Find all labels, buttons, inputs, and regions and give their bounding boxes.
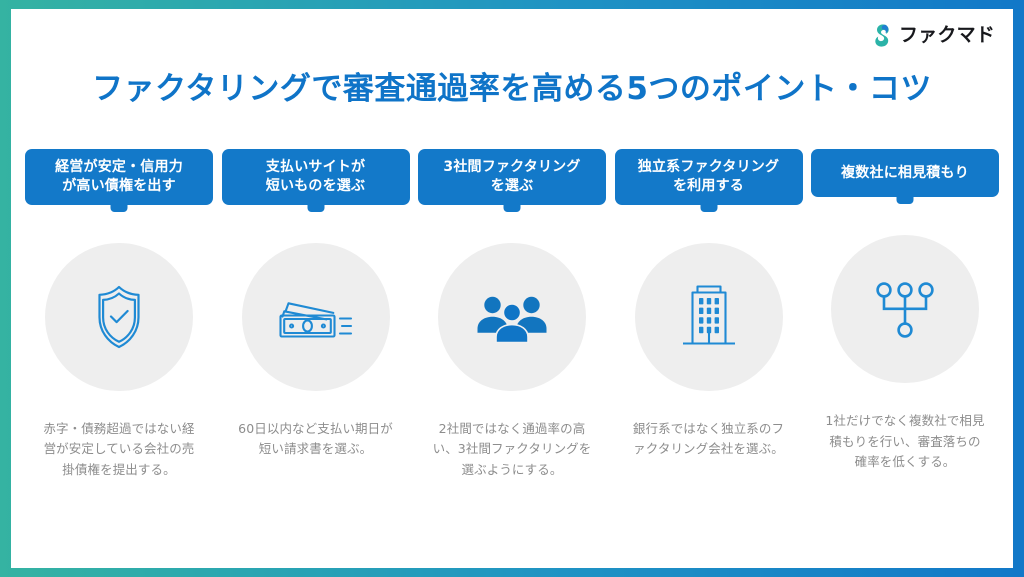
point-badge-4-line2: を利用する bbox=[638, 177, 779, 196]
point-caption-3: 2社間ではなく通過率の高い、3社間ファクタリングを選ぶようにする。 bbox=[431, 419, 593, 481]
banknotes-icon bbox=[276, 289, 356, 345]
point-badge-3: 3社間ファクタリング を選ぶ bbox=[418, 149, 606, 205]
point-caption-2: 60日以内など支払い期日が短い請求書を選ぶ。 bbox=[235, 419, 397, 460]
point-badge-4-line1: 独立系ファクタリング bbox=[638, 158, 779, 177]
point-badge-5-line1: 複数社に相見積もり bbox=[841, 164, 969, 183]
fakumado-swirl-icon bbox=[872, 23, 894, 47]
shield-check-icon bbox=[88, 283, 150, 351]
page-title: ファクタリングで審査通過率を高める5つのポイント・コツ bbox=[11, 69, 1013, 109]
slide-content-area: ファクマド ファクタリングで審査通過率を高める5つのポイント・コツ 経営が安定・… bbox=[11, 9, 1013, 568]
point-column-3: 3社間ファクタリング を選ぶ bbox=[418, 149, 606, 481]
point-column-5: 複数社に相見積もり bbox=[811, 149, 999, 473]
point-badge-5: 複数社に相見積もり bbox=[811, 149, 999, 197]
point-badge-2: 支払いサイトが 短いものを選ぶ bbox=[222, 149, 410, 205]
point-icon-circle-2 bbox=[242, 243, 390, 391]
brand-logo: ファクマド bbox=[872, 23, 995, 47]
people-group-icon bbox=[474, 289, 550, 345]
point-caption-4: 銀行系ではなく独立系のファクタリング会社を選ぶ。 bbox=[628, 419, 790, 460]
hierarchy-network-icon bbox=[872, 278, 938, 340]
point-badge-1: 経営が安定・信用力 が高い債権を出す bbox=[25, 149, 213, 205]
point-badge-3-line2: を選ぶ bbox=[443, 177, 580, 196]
point-badge-4: 独立系ファクタリング を利用する bbox=[615, 149, 803, 205]
point-badge-1-line2: が高い債権を出す bbox=[55, 177, 183, 196]
points-row: 経営が安定・信用力 が高い債権を出す bbox=[25, 149, 999, 481]
infographic-slide: ファクマド ファクタリングで審査通過率を高める5つのポイント・コツ 経営が安定・… bbox=[0, 0, 1024, 577]
point-icon-circle-1 bbox=[45, 243, 193, 391]
point-icon-circle-4 bbox=[635, 243, 783, 391]
point-icon-circle-3 bbox=[438, 243, 586, 391]
point-column-4: 独立系ファクタリング を利用する bbox=[615, 149, 803, 460]
point-caption-1: 赤字・債務超過ではない経営が安定している会社の売掛債権を提出する。 bbox=[38, 419, 200, 481]
point-badge-2-line1: 支払いサイトが bbox=[266, 158, 365, 177]
point-column-2: 支払いサイトが 短いものを選ぶ bbox=[222, 149, 410, 460]
office-building-icon bbox=[678, 282, 740, 352]
point-caption-5: 1社だけでなく複数社で相見積もりを行い、審査落ちの確率を低くする。 bbox=[824, 411, 986, 473]
point-badge-2-line2: 短いものを選ぶ bbox=[266, 177, 365, 196]
point-badge-1-line1: 経営が安定・信用力 bbox=[55, 158, 183, 177]
point-badge-3-line1: 3社間ファクタリング bbox=[443, 158, 580, 177]
point-icon-circle-5 bbox=[831, 235, 979, 383]
brand-logo-text: ファクマド bbox=[899, 26, 995, 45]
point-column-1: 経営が安定・信用力 が高い債権を出す bbox=[25, 149, 213, 481]
